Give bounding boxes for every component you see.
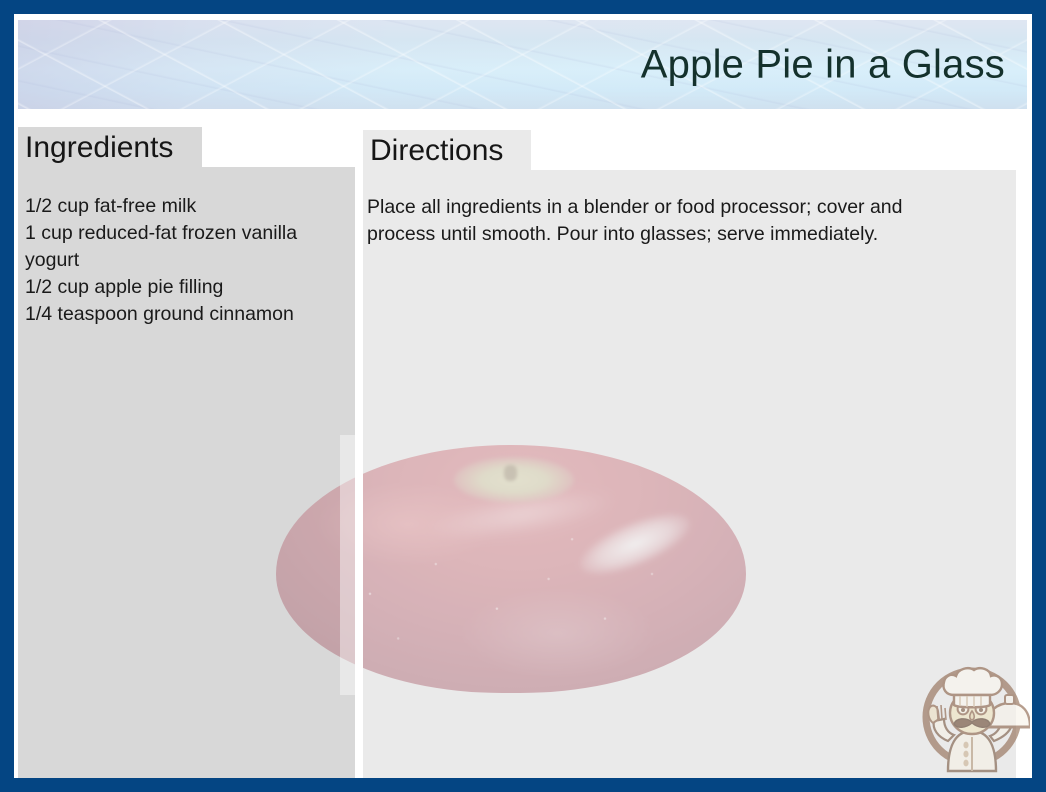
directions-text: Place all ingredients in a blender or fo… xyxy=(367,194,967,248)
list-item: 1 cup reduced-fat frozen vanilla yogurt xyxy=(25,220,337,274)
ingredients-list: 1/2 cup fat-free milk 1 cup reduced-fat … xyxy=(25,193,337,328)
frame-bottom xyxy=(0,778,1046,792)
frame-top xyxy=(0,0,1046,14)
list-item: 1/2 cup fat-free milk xyxy=(25,193,337,220)
recipe-slide: Apple Pie in a Glass Ingredients 1/2 cup… xyxy=(0,0,1046,792)
frame-right xyxy=(1032,0,1046,792)
header-banner: Apple Pie in a Glass xyxy=(18,20,1027,109)
directions-heading: Directions xyxy=(370,134,503,168)
frame-left xyxy=(0,0,14,792)
list-item: 1/2 cup apple pie filling xyxy=(25,274,337,301)
list-item: 1/4 teaspoon ground cinnamon xyxy=(25,301,337,328)
page-title: Apple Pie in a Glass xyxy=(641,42,1005,87)
panel-seam xyxy=(355,167,363,778)
ingredients-heading: Ingredients xyxy=(25,131,173,165)
chef-logo xyxy=(914,649,1030,773)
